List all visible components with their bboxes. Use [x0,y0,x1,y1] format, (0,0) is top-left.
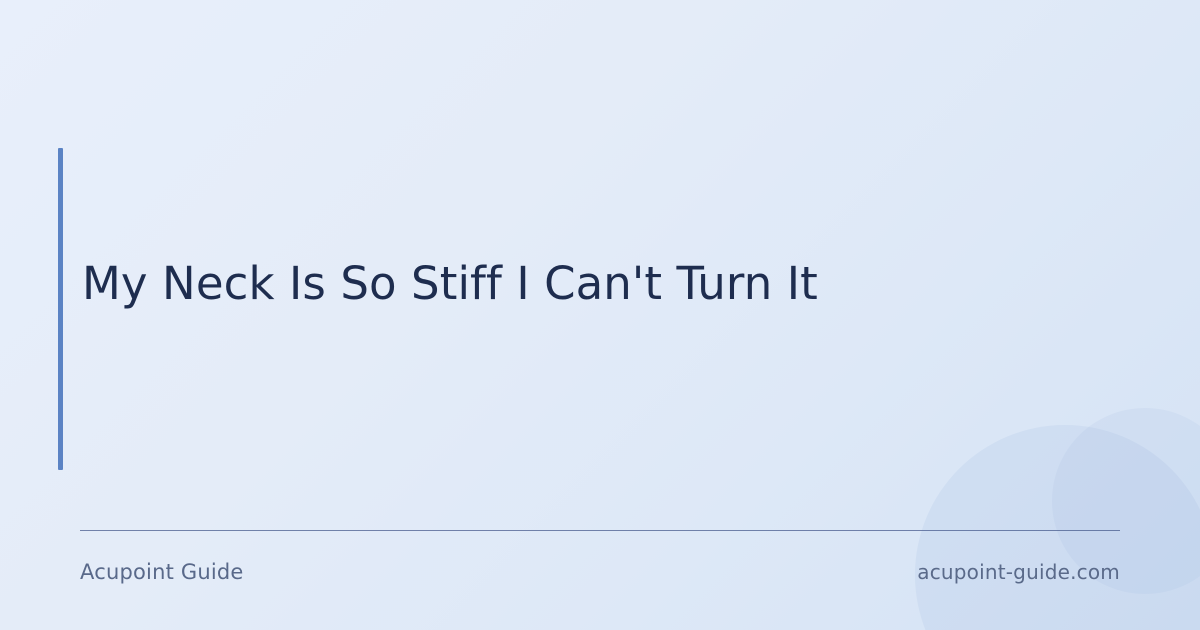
footer-domain: acupoint-guide.com [917,560,1120,584]
footer-divider [80,530,1120,531]
footer: Acupoint Guide acupoint-guide.com [80,552,1120,592]
page-title: My Neck Is So Stiff I Can't Turn It [82,256,1082,312]
accent-bar [58,148,63,470]
footer-brand-name: Acupoint Guide [80,560,244,584]
decorative-circle-large [915,425,1200,630]
social-share-card: My Neck Is So Stiff I Can't Turn It Acup… [0,0,1200,630]
